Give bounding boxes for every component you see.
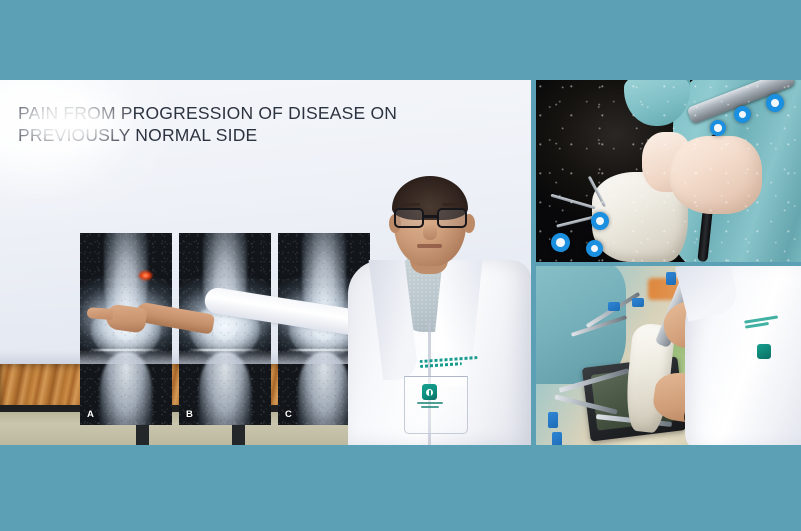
screenshot-canvas: PAIN FROM PROGRESSION OF DISEASE ON PREV… xyxy=(0,0,801,531)
logo-mark xyxy=(426,389,433,396)
nose xyxy=(423,224,437,240)
navigation-marker xyxy=(766,94,784,112)
eyebrow-left xyxy=(398,203,420,206)
lens-left xyxy=(394,208,424,228)
caption-top-right: Gloved hands using a navigated surgical … xyxy=(0,16,1,17)
pointing-finger xyxy=(87,307,114,320)
slide-title: PAIN FROM PROGRESSION OF DISEASE ON PREV… xyxy=(18,102,448,146)
caption-bottom-right: Surgeon assembling an external fixator o… xyxy=(0,16,1,17)
joint-line xyxy=(89,349,163,351)
blue-clamp xyxy=(552,432,562,445)
navigation-marker xyxy=(734,106,751,123)
navigation-marker xyxy=(551,233,570,252)
blue-clamp xyxy=(666,272,676,285)
photo-collage: PAIN FROM PROGRESSION OF DISEASE ON PREV… xyxy=(0,80,801,445)
workshop-photo-panel xyxy=(536,266,801,445)
xray-label: A xyxy=(87,409,94,420)
navigation-marker xyxy=(586,240,603,257)
blue-clamp xyxy=(632,298,644,307)
lens-right xyxy=(437,208,467,228)
dust-speckle-overlay xyxy=(536,80,801,262)
blue-clamp xyxy=(608,302,620,311)
caption-left: Orthopedic surgeon presenting knee osteo… xyxy=(0,16,1,17)
eyebrow-right xyxy=(442,203,464,206)
embroidery-line xyxy=(420,362,462,368)
glasses-bridge xyxy=(424,215,437,218)
lecture-photo-panel: PAIN FROM PROGRESSION OF DISEASE ON PREV… xyxy=(0,80,531,445)
wordmark-line xyxy=(421,406,439,408)
speaker-figure xyxy=(332,172,531,445)
navigation-marker xyxy=(591,212,609,230)
hospital-logo-icon xyxy=(757,344,771,359)
xray-label: B xyxy=(186,409,193,420)
blue-clamp xyxy=(548,412,558,428)
panel-divider-horizontal xyxy=(536,262,801,266)
mouth xyxy=(417,244,442,248)
wordmark-line xyxy=(417,402,443,404)
hospital-logo-wordmark xyxy=(417,402,443,409)
navigation-marker xyxy=(710,120,726,136)
hospital-logo-icon xyxy=(422,384,437,400)
or-navigation-photo-panel xyxy=(536,80,801,262)
joint-line xyxy=(188,349,262,351)
xray-label: C xyxy=(285,409,292,420)
